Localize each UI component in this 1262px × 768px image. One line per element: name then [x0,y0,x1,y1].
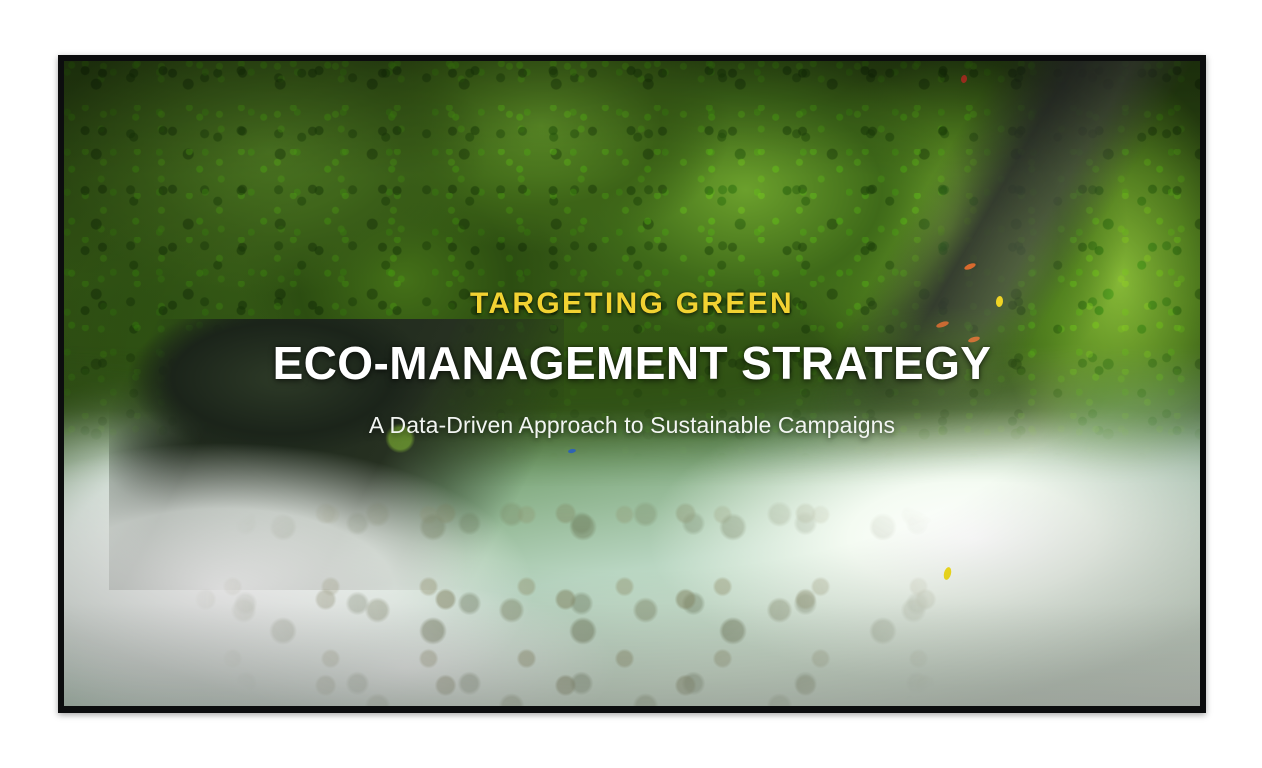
slide-screen: TARGETING GREEN ECO-MANAGEMENT STRATEGY … [64,61,1200,706]
slide-subtitle: A Data-Driven Approach to Sustainable Ca… [64,414,1200,437]
slide-frame: TARGETING GREEN ECO-MANAGEMENT STRATEGY … [58,55,1206,713]
slide-main-title: ECO-MANAGEMENT STRATEGY [64,340,1200,386]
slide-eyebrow: TARGETING GREEN [64,289,1200,319]
slide-title-block: TARGETING GREEN ECO-MANAGEMENT STRATEGY … [64,289,1200,437]
